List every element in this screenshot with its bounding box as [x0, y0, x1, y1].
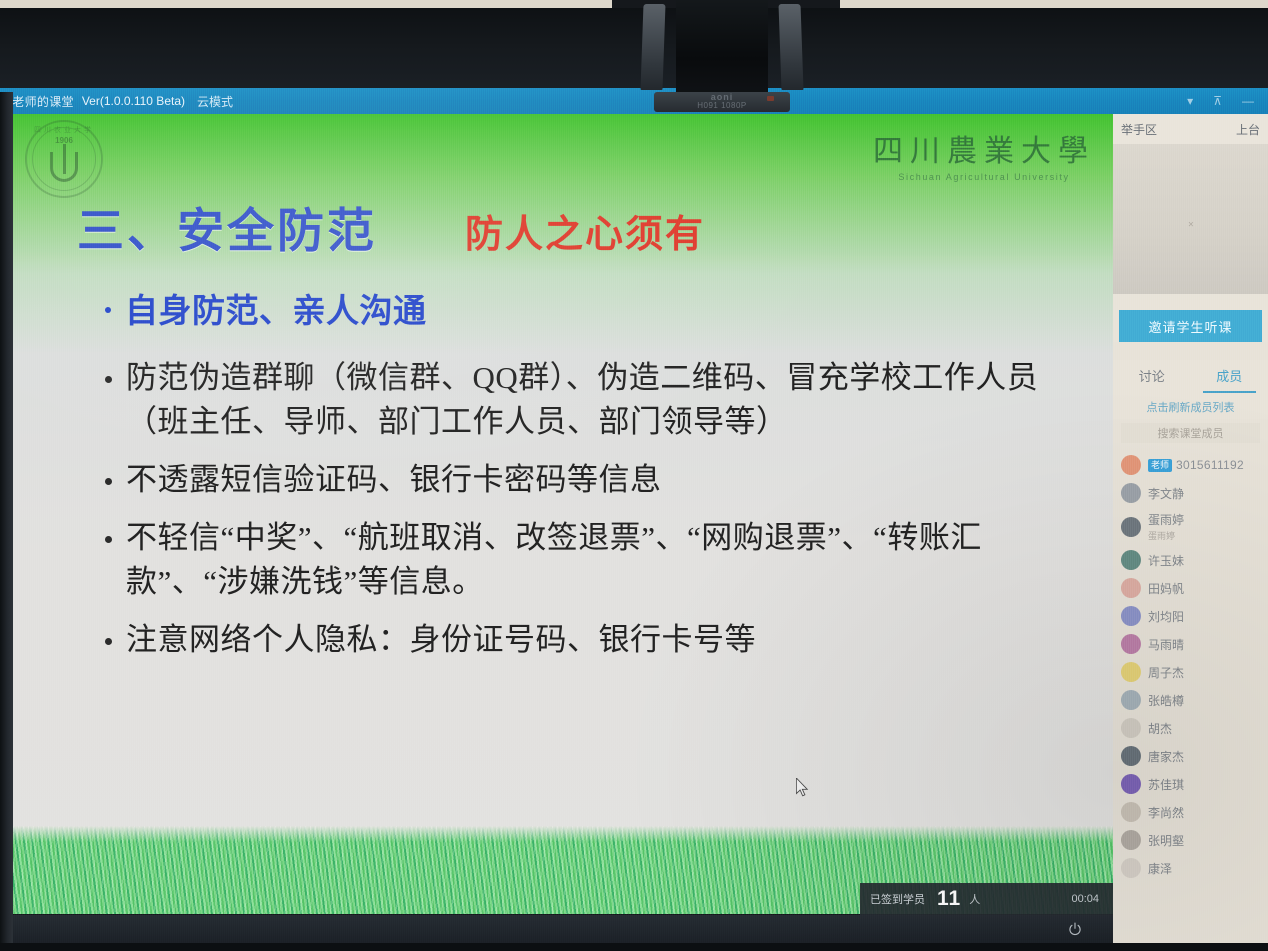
slide-bullet-item: 不透露短信验证码、银行卡密码等信息 [105, 458, 1061, 502]
invite-button-wrap: 邀请学生听课 [1113, 294, 1268, 342]
webcam-clip-left [640, 4, 665, 90]
webcam-body [676, 0, 768, 98]
invite-students-button[interactable]: 邀请学生听课 [1119, 310, 1262, 342]
classroom-sidebar: 举手区 上台 × 邀请学生听课 讨论 成员 点击刷新成员列表 搜索课堂成员 [1113, 114, 1268, 943]
slide-title: 三、安全防范 [77, 192, 377, 261]
on-stage-label[interactable]: 上台 [1236, 121, 1260, 138]
bullet-text: 注意网络个人隐私：身份证号码、银行卡号等 [126, 618, 756, 662]
member-texts: 李文静 [1148, 485, 1184, 502]
teacher-badge: 老师 [1148, 459, 1172, 472]
list-item[interactable]: 李尚然 [1113, 798, 1268, 826]
app-version: Ver(1.0.0.110 Beta) [82, 94, 185, 108]
member-texts: 胡杰 [1148, 720, 1172, 737]
member-search-input[interactable]: 搜索课堂成员 [1121, 423, 1260, 443]
member-name: 许玉妹 [1148, 552, 1184, 569]
attendance-status-bar: 已签到学员 11 人 00:04 [860, 883, 1113, 915]
list-item[interactable]: 刘均阳 [1113, 602, 1268, 630]
slide-bullet-item: 自身防范、亲人沟通 [105, 289, 1061, 336]
avatar [1121, 483, 1141, 503]
member-name: 蛋雨婷 [1148, 511, 1184, 528]
list-item[interactable]: 李文静 [1113, 479, 1268, 507]
hand-raise-area-label: 举手区 [1121, 121, 1157, 138]
member-name: 周子杰 [1148, 664, 1184, 681]
member-texts: 苏佳琪 [1148, 776, 1184, 793]
avatar [1121, 830, 1141, 850]
avatar [1121, 858, 1141, 878]
slide-heading-row: 三、安全防范 防人之心须有 [77, 192, 1073, 261]
member-name: 唐家杰 [1148, 748, 1184, 765]
bullet-dot-icon [105, 376, 112, 383]
member-name: 胡杰 [1148, 720, 1172, 737]
member-texts: 周子杰 [1148, 664, 1184, 681]
slide-bottom-bar [13, 915, 1113, 943]
webcam-device: aoni H091 1080P [636, 0, 808, 112]
slide-bullet-list: 自身防范、亲人沟通 防范伪造群聊（微信群、QQ群）、伪造二维码、冒充学校工作人员… [105, 289, 1061, 676]
member-name: 李尚然 [1148, 804, 1184, 821]
list-item[interactable]: 马雨晴 [1113, 630, 1268, 658]
app-title-bar: 于老师的课堂 Ver(1.0.0.110 Beta) 云模式 ▾ ⊼ — [0, 88, 1268, 114]
monitor-bottom-bezel [0, 943, 1268, 951]
member-name: 田妈帆 [1148, 580, 1184, 597]
monitor-photo: aoni H091 1080P 于老师的课堂 Ver(1.0.0.110 Bet… [0, 0, 1268, 951]
list-item[interactable]: 田妈帆 [1113, 574, 1268, 602]
slide-bullet-item: 不轻信“中奖”、“航班取消、改签退票”、“网购退票”、“转账汇款”、“涉嫌洗钱”… [105, 516, 1061, 604]
list-item[interactable]: 许玉妹 [1113, 546, 1268, 574]
app-mode: 云模式 [197, 93, 233, 110]
session-timer: 00:04 [1071, 893, 1099, 905]
avatar [1121, 606, 1141, 626]
refresh-member-list-link[interactable]: 点击刷新成员列表 [1113, 393, 1268, 419]
sidebar-tabs: 讨论 成员 [1113, 360, 1268, 393]
attendance-label: 已签到学员 [870, 891, 925, 907]
pin-icon[interactable]: ⊼ [1213, 95, 1222, 107]
member-texts: 唐家杰 [1148, 748, 1184, 765]
attendance-unit: 人 [969, 891, 980, 907]
list-item[interactable]: 蛋雨婷 蛋雨婷 [1113, 507, 1268, 546]
slide-title-accent: 防人之心须有 [465, 203, 705, 258]
member-texts: 马雨晴 [1148, 636, 1184, 653]
webcam-clip-right [778, 4, 803, 90]
member-texts: 刘均阳 [1148, 608, 1184, 625]
slide-bullet-item: 注意网络个人隐私：身份证号码、银行卡号等 [105, 618, 1061, 662]
tab-members[interactable]: 成员 [1191, 360, 1268, 393]
member-name: 李文静 [1148, 485, 1184, 502]
member-name: 张皓樽 [1148, 692, 1184, 709]
list-item[interactable]: 周子杰 [1113, 658, 1268, 686]
avatar [1121, 578, 1141, 598]
slide-bullet-item: 防范伪造群聊（微信群、QQ群）、伪造二维码、冒充学校工作人员（班主任、导师、部门… [105, 356, 1061, 444]
bullet-dot-icon [105, 478, 112, 485]
presentation-area[interactable]: 四川农业大学 1906 四川農業大學 Sichuan Agricultural … [13, 114, 1113, 914]
attendance-count: 11 [937, 887, 961, 911]
member-texts: 蛋雨婷 蛋雨婷 [1148, 511, 1184, 542]
member-name: 苏佳琪 [1148, 776, 1184, 793]
list-item[interactable]: 康泽 [1113, 854, 1268, 882]
minimize-icon[interactable]: — [1242, 95, 1254, 107]
power-icon[interactable] [1067, 921, 1083, 937]
avatar [1121, 746, 1141, 766]
webcam-model-label: H091 1080P [654, 101, 790, 111]
member-name: 马雨晴 [1148, 636, 1184, 653]
member-list: 老师 3015611192 李文静 蛋雨婷 蛋雨婷 [1113, 449, 1268, 882]
list-item[interactable]: 苏佳琪 [1113, 770, 1268, 798]
member-texts: 康泽 [1148, 860, 1172, 877]
monitor-top-bezel [0, 8, 1268, 92]
tab-discussion[interactable]: 讨论 [1113, 360, 1191, 393]
avatar [1121, 718, 1141, 738]
bullet-dot-icon [105, 307, 111, 313]
avatar [1121, 634, 1141, 654]
bullet-text: 自身防范、亲人沟通 [125, 289, 427, 336]
bullet-dot-icon [105, 638, 112, 645]
list-item[interactable]: 张明壑 [1113, 826, 1268, 854]
university-wordmark: 四川農業大學 Sichuan Agricultural University [873, 126, 1095, 182]
chevron-down-icon[interactable]: ▾ [1187, 95, 1193, 107]
hand-raise-empty-marker: × [1188, 220, 1193, 225]
member-name: 张明壑 [1148, 832, 1184, 849]
sidebar-header: 举手区 上台 [1113, 114, 1268, 144]
webcam-base: aoni H091 1080P [654, 92, 790, 112]
seal-emblem-mark [50, 152, 78, 182]
avatar [1121, 455, 1141, 475]
university-name-en: Sichuan Agricultural University [873, 172, 1095, 182]
member-texts: 张皓樽 [1148, 692, 1184, 709]
member-name: 刘均阳 [1148, 608, 1184, 625]
bullet-text: 防范伪造群聊（微信群、QQ群）、伪造二维码、冒充学校工作人员（班主任、导师、部门… [126, 356, 1061, 444]
bullet-dot-icon [105, 536, 112, 543]
hand-raise-area[interactable]: × [1113, 144, 1268, 294]
avatar [1121, 802, 1141, 822]
slide-canvas: 四川农业大学 1906 四川農業大學 Sichuan Agricultural … [13, 114, 1113, 914]
mouse-cursor-icon [796, 778, 810, 798]
member-texts: 许玉妹 [1148, 552, 1184, 569]
member-texts: 李尚然 [1148, 804, 1184, 821]
university-name-cn: 四川農業大學 [873, 126, 1095, 170]
avatar [1121, 690, 1141, 710]
seal-cn-text: 四川农业大学 [27, 125, 101, 135]
list-item[interactable]: 老师 3015611192 [1113, 451, 1268, 479]
university-seal-icon: 四川农业大学 1906 [25, 120, 103, 198]
member-name: 康泽 [1148, 860, 1172, 877]
member-id: 3015611192 [1176, 458, 1244, 472]
avatar [1121, 550, 1141, 570]
webcam-led-indicator [767, 96, 774, 101]
bullet-text: 不轻信“中奖”、“航班取消、改签退票”、“网购退票”、“转账汇款”、“涉嫌洗钱”… [126, 516, 1061, 604]
avatar [1121, 517, 1141, 537]
monitor-screen: 于老师的课堂 Ver(1.0.0.110 Beta) 云模式 ▾ ⊼ — 四川农… [0, 88, 1268, 943]
list-item[interactable]: 张皓樽 [1113, 686, 1268, 714]
bullet-text: 不透露短信验证码、银行卡密码等信息 [126, 458, 662, 502]
list-item[interactable]: 唐家杰 [1113, 742, 1268, 770]
avatar [1121, 662, 1141, 682]
member-texts: 张明壑 [1148, 832, 1184, 849]
avatar [1121, 774, 1141, 794]
member-subtitle: 蛋雨婷 [1148, 529, 1184, 542]
monitor-left-bezel [0, 92, 13, 951]
window-controls: ▾ ⊼ — [1187, 95, 1268, 107]
member-texts: 老师 3015611192 [1148, 458, 1244, 472]
member-primary-line: 老师 3015611192 [1148, 458, 1244, 472]
member-texts: 田妈帆 [1148, 580, 1184, 597]
list-item[interactable]: 胡杰 [1113, 714, 1268, 742]
